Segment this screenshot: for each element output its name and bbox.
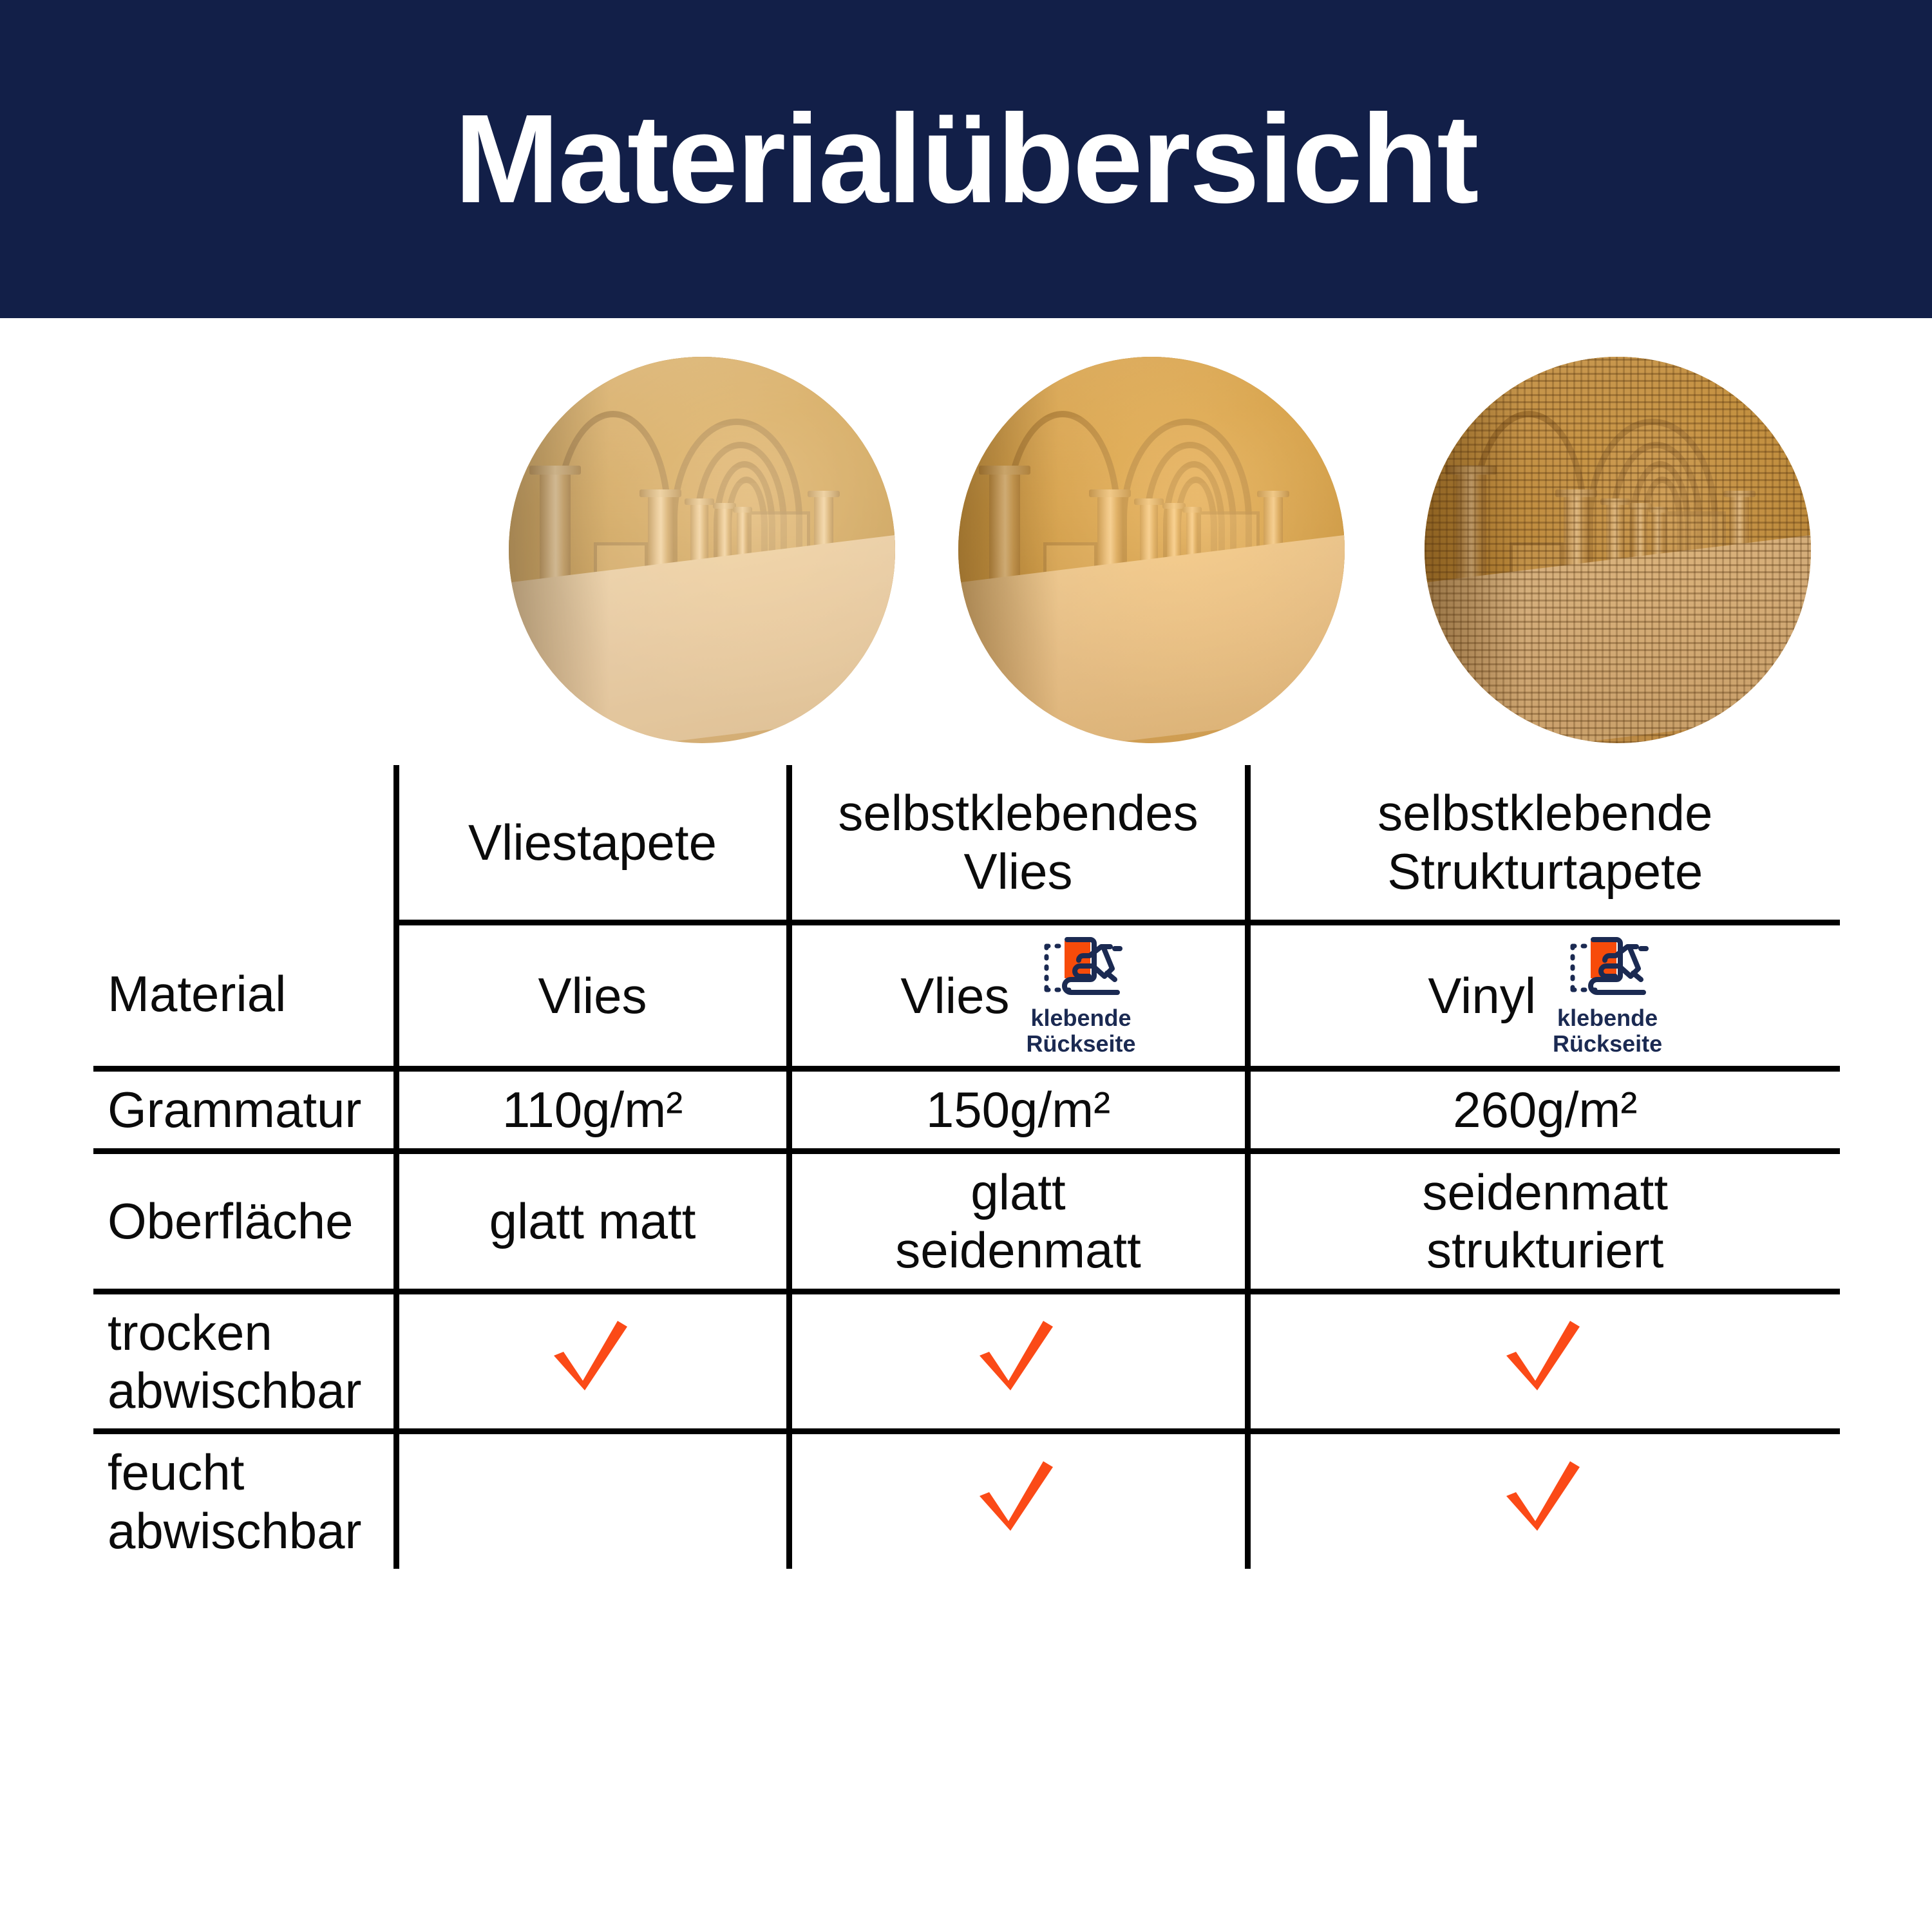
column-header-selbstklebende-strukturtapete: selbstklebende Strukturtapete [1247, 765, 1840, 922]
adhesive-back-icon [1565, 934, 1650, 1001]
material-comparison-table: Vliestapete selbstklebendes Vlies selbst… [93, 765, 1840, 1569]
cell-trocken-col2 [789, 1291, 1247, 1432]
checkmark-icon [970, 1457, 1066, 1535]
adhesive-back-icon [1039, 934, 1124, 1001]
cell-value: 260g/m² [1453, 1081, 1637, 1138]
page-title: Materialübersicht [455, 96, 1478, 222]
cell-value: 150g/m² [926, 1081, 1110, 1138]
cell-feucht-col1 [396, 1432, 789, 1569]
cell-value: 110g/m² [502, 1081, 683, 1138]
cell-grammatur-col2: 150g/m² [789, 1069, 1247, 1151]
cell-value: glatt matt [489, 1193, 696, 1249]
row-label-oberflaeche: Oberfläche [93, 1151, 396, 1291]
cell-material-col3: Vinyl [1247, 922, 1840, 1069]
table-row: feucht abwischbar [93, 1432, 1840, 1569]
row-label-grammatur: Grammatur [93, 1069, 396, 1151]
checkmark-icon [1497, 1457, 1593, 1535]
cell-value: seidenmatt strukturiert [1422, 1164, 1668, 1278]
table-row: Material Vlies Vlies [93, 922, 1840, 1069]
column-header-label: Vliestapete [468, 814, 717, 871]
adhesive-back-badge: klebende Rückseite [1026, 934, 1135, 1057]
preview-circles [489, 353, 1842, 765]
checkmark-icon [1497, 1317, 1593, 1394]
cell-value: Vlies [900, 967, 1009, 1025]
colonnade-illustration [509, 357, 895, 743]
table-row: Grammatur 110g/m² 150g/m² 260g/m² [93, 1069, 1840, 1151]
column-header-label: selbstklebendes Vlies [838, 784, 1198, 899]
table-header-row: Vliestapete selbstklebendes Vlies selbst… [93, 765, 1840, 922]
cell-oberflaeche-col2: glatt seidenmatt [789, 1151, 1247, 1291]
cell-trocken-col3 [1247, 1291, 1840, 1432]
column-header-label: selbstklebende Strukturtapete [1378, 784, 1712, 899]
cell-value: Vinyl [1428, 967, 1536, 1025]
preview-vliestapete [509, 357, 895, 743]
column-header-vliestapete: Vliestapete [396, 765, 789, 922]
cell-grammatur-col1: 110g/m² [396, 1069, 789, 1151]
cell-material-col2: Vlies [789, 922, 1247, 1069]
header-cell-empty [93, 765, 396, 922]
checkmark-icon [544, 1317, 641, 1394]
preview-selbstklebende-strukturtapete [1425, 357, 1811, 743]
cell-oberflaeche-col3: seidenmatt strukturiert [1247, 1151, 1840, 1291]
cell-feucht-col3 [1247, 1432, 1840, 1569]
cell-trocken-col1 [396, 1291, 789, 1432]
row-label-trocken-abwischbar: trocken abwischbar [93, 1291, 396, 1432]
row-label-material: Material [93, 922, 396, 1069]
adhesive-back-badge: klebende Rückseite [1553, 934, 1662, 1057]
cell-grammatur-col3: 260g/m² [1247, 1069, 1840, 1151]
header-banner: Materialübersicht [0, 0, 1932, 318]
cell-material-col1: Vlies [396, 922, 789, 1069]
cell-value: Vlies [538, 967, 647, 1025]
cell-oberflaeche-col1: glatt matt [396, 1151, 789, 1291]
table-row: trocken abwischbar [93, 1291, 1840, 1432]
row-label-feucht-abwischbar: feucht abwischbar [93, 1432, 396, 1569]
column-header-selbstklebendes-vlies: selbstklebendes Vlies [789, 765, 1247, 922]
checkmark-icon [970, 1317, 1066, 1394]
preview-selbstklebendes-vlies [958, 357, 1345, 743]
colonnade-illustration [958, 357, 1345, 743]
colonnade-illustration [1425, 357, 1811, 743]
cell-value: glatt seidenmatt [895, 1164, 1141, 1278]
cell-feucht-col2 [789, 1432, 1247, 1569]
material-overview-page: Materialübersicht [0, 0, 1932, 1932]
adhesive-back-label: klebende Rückseite [1026, 1005, 1135, 1057]
table-row: Oberfläche glatt matt glatt seidenmatt s… [93, 1151, 1840, 1291]
adhesive-back-label: klebende Rückseite [1553, 1005, 1662, 1057]
